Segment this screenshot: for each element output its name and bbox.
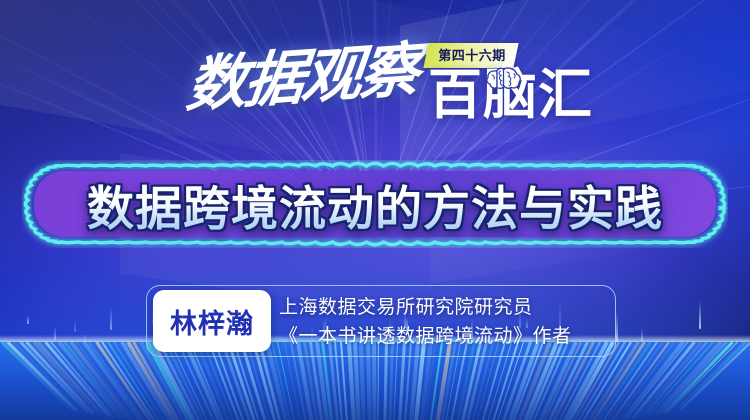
speaker-credentials: 上海数据交易所研究院研究员 《一本书讲透数据跨境流动》作者	[279, 292, 605, 352]
speaker-name-box: 林梓瀚	[153, 290, 271, 352]
title-banner-inner: 数据跨境流动的方法与实践	[34, 171, 716, 237]
speaker-name: 林梓瀚	[170, 302, 254, 341]
speaker-panel: 林梓瀚 上海数据交易所研究院研究员 《一本书讲透数据跨境流动》作者	[146, 285, 616, 357]
brand-logo-block: 数据观察 第四十六期 百脑汇	[188, 34, 608, 149]
brand-calligraphy-title: 数据观察	[184, 40, 421, 116]
title-banner: 数据跨境流动的方法与实践	[22, 160, 728, 248]
brain-icon	[484, 62, 524, 94]
page-title: 数据跨境流动的方法与实践	[87, 170, 663, 239]
speaker-credential-line-2: 《一本书讲透数据跨境流动》作者	[279, 322, 605, 351]
poster-canvas: 数据观察 第四十六期 百脑汇	[0, 0, 750, 420]
speaker-credential-line-1: 上海数据交易所研究院研究员	[279, 293, 605, 322]
